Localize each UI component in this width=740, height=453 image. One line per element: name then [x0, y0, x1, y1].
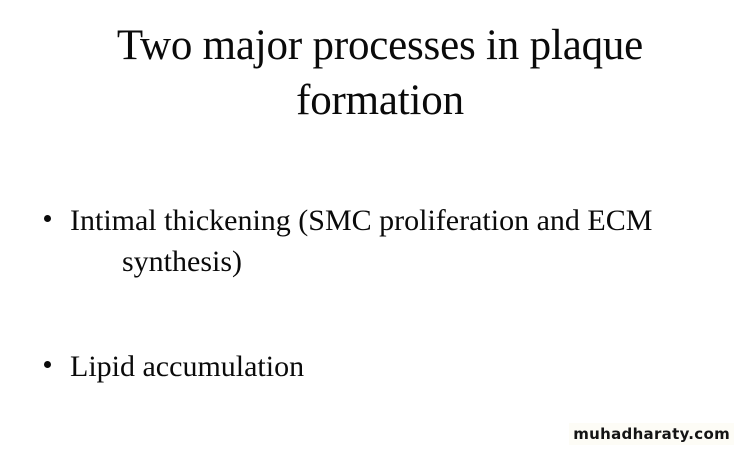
- watermark: muhadharaty.com: [569, 423, 734, 445]
- list-item-label: Intimal thickening (SMC proliferation an…: [70, 200, 700, 282]
- page-title: Two major processes in plaque formation: [55, 18, 705, 128]
- bullet-dot-icon: [44, 215, 51, 222]
- bullet-list: Intimal thickening (SMC proliferation an…: [0, 200, 740, 387]
- list-item: Intimal thickening (SMC proliferation an…: [0, 200, 740, 282]
- list-item-label: Lipid accumulation: [70, 346, 700, 387]
- slide-canvas: Two major processes in plaque formation …: [0, 0, 740, 453]
- bullet-dot-icon: [44, 361, 51, 368]
- list-item: Lipid accumulation: [0, 346, 740, 387]
